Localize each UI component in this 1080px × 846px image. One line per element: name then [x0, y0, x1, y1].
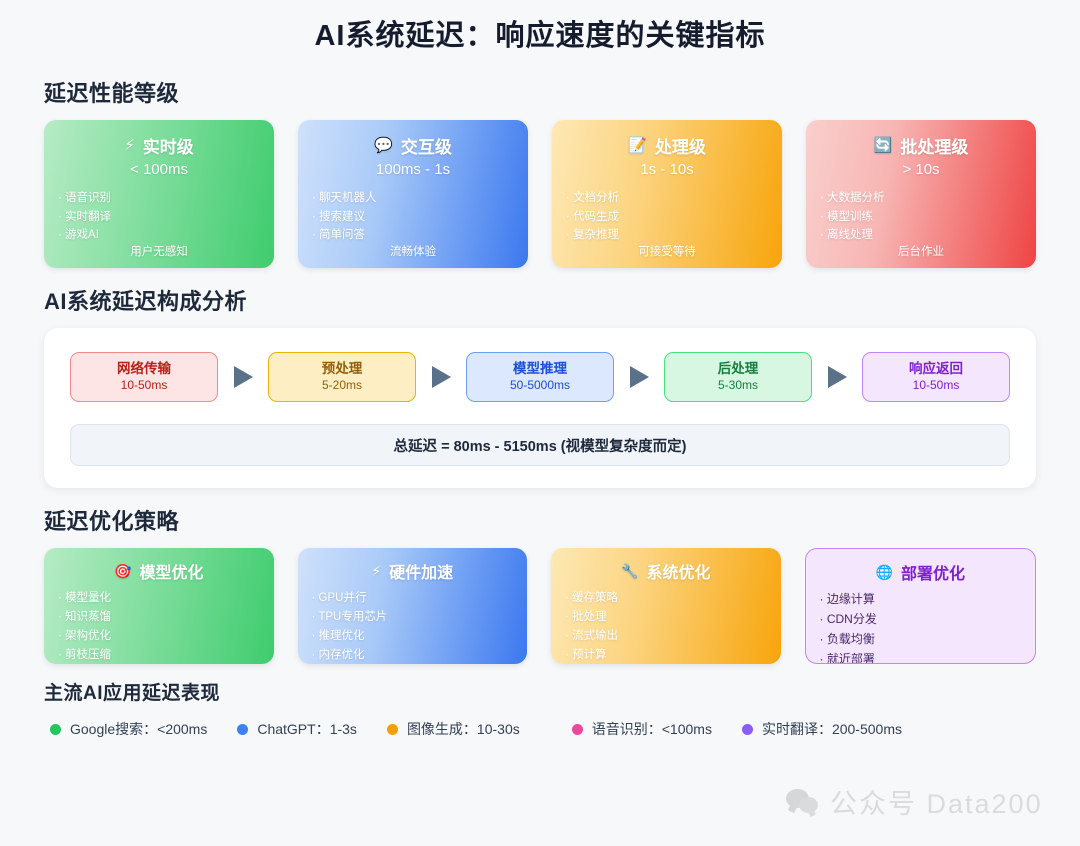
strategy-card-system: 🔧 系统优化 缓存策略 批处理 流式输出 预计算: [551, 548, 781, 664]
list-item: 实时翻译: [58, 208, 260, 227]
strategy-name: 硬件加速: [389, 559, 453, 583]
legend-label: 图像生成：10-30s: [407, 719, 520, 739]
list-item: 知识蒸馏: [58, 608, 260, 627]
legend-label: 实时翻译：200-500ms: [762, 719, 902, 739]
tier-name: 实时级: [143, 133, 194, 158]
list-item: 就近部署: [820, 650, 1022, 664]
strategy-card-deployment: 🌐 部署优化 边缘计算 CDN分发 负载均衡 就近部署: [805, 548, 1037, 664]
tier-header: 📝 处理级: [566, 133, 768, 158]
list-item: 流式输出: [565, 627, 767, 646]
tier-footer: 用户无感知: [44, 243, 274, 259]
legend-label: ChatGPT：1-3s: [257, 719, 357, 739]
lightning-icon: ⚡: [124, 138, 135, 153]
target-icon: 🎯: [114, 564, 131, 578]
tier-item-list: 语音识别 实时翻译 游戏AI: [58, 189, 260, 245]
section-heading-breakdown: AI系统延迟构成分析: [44, 284, 1036, 316]
flow-step-name: 模型推理: [513, 361, 567, 378]
list-item: 内存优化: [312, 646, 514, 664]
infographic-page: AI系统延迟：响应速度的关键指标 延迟性能等级 ⚡ 实时级 < 100ms 语音…: [0, 0, 1080, 846]
flow-step-name: 网络传输: [117, 361, 171, 378]
strategy-item-list: 缓存策略 批处理 流式输出 预计算: [565, 589, 767, 664]
flow-step-preprocess: 预处理 5-20ms: [268, 352, 416, 402]
legend-label: 语音识别：<100ms: [592, 719, 712, 739]
list-item: 剪枝压缩: [58, 646, 260, 664]
tier-header: 💬 交互级: [312, 133, 514, 158]
list-item: 负载均衡: [820, 630, 1022, 650]
list-item: TPU专用芯片: [312, 608, 514, 627]
strategy-header: 🎯 模型优化: [58, 559, 260, 583]
list-item: 架构优化: [58, 627, 260, 646]
strategy-item-list: 模型量化 知识蒸馏 架构优化 剪枝压缩: [58, 589, 260, 664]
strategy-header: ⚡ 硬件加速: [312, 559, 514, 583]
list-item: GPU并行: [312, 589, 514, 608]
strategy-item-list: GPU并行 TPU专用芯片 推理优化 内存优化: [312, 589, 514, 664]
tier-card-batch: 🔄 批处理级 > 10s 大数据分析 模型训练 离线处理 后台作业: [806, 120, 1036, 268]
flow-step-postprocess: 后处理 5-30ms: [664, 352, 812, 402]
wrench-icon: 🔧: [621, 564, 638, 578]
list-item: 批处理: [565, 608, 767, 627]
legend-label: Google搜索：<200ms: [70, 719, 207, 739]
flow-step-inference: 模型推理 50-5000ms: [466, 352, 614, 402]
tier-header: 🔄 批处理级: [820, 133, 1022, 158]
list-item: 代码生成: [566, 208, 768, 227]
tier-card-interactive: 💬 交互级 100ms - 1s 聊天机器人 搜索建议 简单问答 流畅体验: [298, 120, 528, 268]
tier-footer: 流畅体验: [298, 243, 528, 259]
list-item: 缓存策略: [565, 589, 767, 608]
section-heading-strategy: 延迟优化策略: [44, 504, 1036, 536]
flow-step-name: 响应返回: [909, 361, 963, 378]
legend-item-speech: 语音识别：<100ms: [572, 719, 712, 739]
list-item: 预计算: [565, 646, 767, 664]
legend-item-translate: 实时翻译：200-500ms: [742, 719, 902, 739]
strategy-name: 系统优化: [646, 559, 710, 583]
lightning-icon: ⚡: [371, 564, 381, 578]
list-item: 搜索建议: [312, 208, 514, 227]
page-title: AI系统延迟：响应速度的关键指标: [44, 0, 1036, 60]
legend-item-google: Google搜索：<200ms: [50, 719, 207, 739]
list-item: CDN分发: [820, 610, 1022, 630]
tier-item-list: 文档分析 代码生成 复杂推理: [566, 189, 768, 245]
tier-range: 1s - 10s: [566, 161, 768, 178]
tier-name: 处理级: [655, 133, 706, 158]
arrow-right-icon: [630, 366, 649, 388]
list-item: 语音识别: [58, 189, 260, 208]
legend-dot-icon: [572, 724, 583, 735]
speech-bubble-icon: 💬: [374, 138, 393, 153]
legend-dot-icon: [237, 724, 248, 735]
tier-name: 交互级: [401, 133, 452, 158]
flow-step-value: 5-30ms: [718, 378, 758, 394]
tier-card-processing: 📝 处理级 1s - 10s 文档分析 代码生成 复杂推理 可接受等待: [552, 120, 782, 268]
flow-step-name: 后处理: [718, 361, 759, 378]
sync-icon: 🔄: [874, 138, 893, 153]
strategy-name: 模型优化: [139, 559, 203, 583]
tier-header: ⚡ 实时级: [58, 133, 260, 158]
tier-range: 100ms - 1s: [312, 161, 514, 178]
strategy-name: 部署优化: [901, 560, 965, 584]
strategy-header: 🔧 系统优化: [565, 559, 767, 583]
tier-range: < 100ms: [58, 161, 260, 178]
flow-step-row: 网络传输 10-50ms 预处理 5-20ms 模型推理 50-5000ms 后…: [70, 352, 1010, 402]
list-item: 模型训练: [820, 208, 1022, 227]
flow-step-value: 5-20ms: [322, 378, 362, 394]
memo-icon: 📝: [628, 138, 647, 153]
legend-item-chatgpt: ChatGPT：1-3s: [237, 719, 357, 739]
latency-flow-panel: 网络传输 10-50ms 预处理 5-20ms 模型推理 50-5000ms 后…: [44, 328, 1036, 488]
tier-footer: 后台作业: [806, 243, 1036, 259]
section-heading-tiers: 延迟性能等级: [44, 76, 1036, 108]
flow-step-value: 10-50ms: [913, 378, 960, 394]
arrow-right-icon: [432, 366, 451, 388]
tier-item-list: 大数据分析 模型训练 离线处理: [820, 189, 1022, 245]
legend-item-image-gen: 图像生成：10-30s: [387, 719, 520, 739]
tier-item-list: 聊天机器人 搜索建议 简单问答: [312, 189, 514, 245]
flow-step-network: 网络传输 10-50ms: [70, 352, 218, 402]
list-item: 文档分析: [566, 189, 768, 208]
wechat-logo-icon: [786, 787, 820, 817]
watermark: 公众号 Data200: [786, 782, 1043, 821]
tier-footer: 可接受等待: [552, 243, 782, 259]
globe-icon: 🌐: [876, 565, 893, 579]
strategy-card-row: 🎯 模型优化 模型量化 知识蒸馏 架构优化 剪枝压缩 ⚡ 硬件加速 GPU并行 …: [44, 548, 1036, 664]
tier-name: 批处理级: [900, 133, 968, 158]
arrow-right-icon: [234, 366, 253, 388]
strategy-card-model: 🎯 模型优化 模型量化 知识蒸馏 架构优化 剪枝压缩: [44, 548, 274, 664]
tier-card-row: ⚡ 实时级 < 100ms 语音识别 实时翻译 游戏AI 用户无感知 💬 交互级…: [44, 120, 1036, 268]
strategy-header: 🌐 部署优化: [820, 560, 1022, 584]
watermark-text: 公众号 Data200: [830, 782, 1043, 821]
list-item: 推理优化: [312, 627, 514, 646]
tier-card-realtime: ⚡ 实时级 < 100ms 语音识别 实时翻译 游戏AI 用户无感知: [44, 120, 274, 268]
flow-step-value: 50-5000ms: [510, 378, 570, 394]
section-heading-apps: 主流AI应用延迟表现: [44, 678, 1036, 705]
app-latency-legend: Google搜索：<200ms ChatGPT：1-3s 图像生成：10-30s…: [44, 719, 1036, 739]
legend-dot-icon: [742, 724, 753, 735]
tier-range: > 10s: [820, 161, 1022, 178]
flow-step-value: 10-50ms: [121, 378, 168, 394]
flow-step-name: 预处理: [322, 361, 363, 378]
total-latency-banner: 总延迟 = 80ms - 5150ms (视模型复杂度而定): [70, 424, 1010, 466]
strategy-item-list: 边缘计算 CDN分发 负载均衡 就近部署: [820, 590, 1022, 664]
flow-step-response: 响应返回 10-50ms: [862, 352, 1010, 402]
list-item: 聊天机器人: [312, 189, 514, 208]
legend-dot-icon: [50, 724, 61, 735]
list-item: 边缘计算: [820, 590, 1022, 610]
list-item: 模型量化: [58, 589, 260, 608]
list-item: 大数据分析: [820, 189, 1022, 208]
strategy-card-hardware: ⚡ 硬件加速 GPU并行 TPU专用芯片 推理优化 内存优化: [298, 548, 528, 664]
legend-dot-icon: [387, 724, 398, 735]
arrow-right-icon: [828, 366, 847, 388]
